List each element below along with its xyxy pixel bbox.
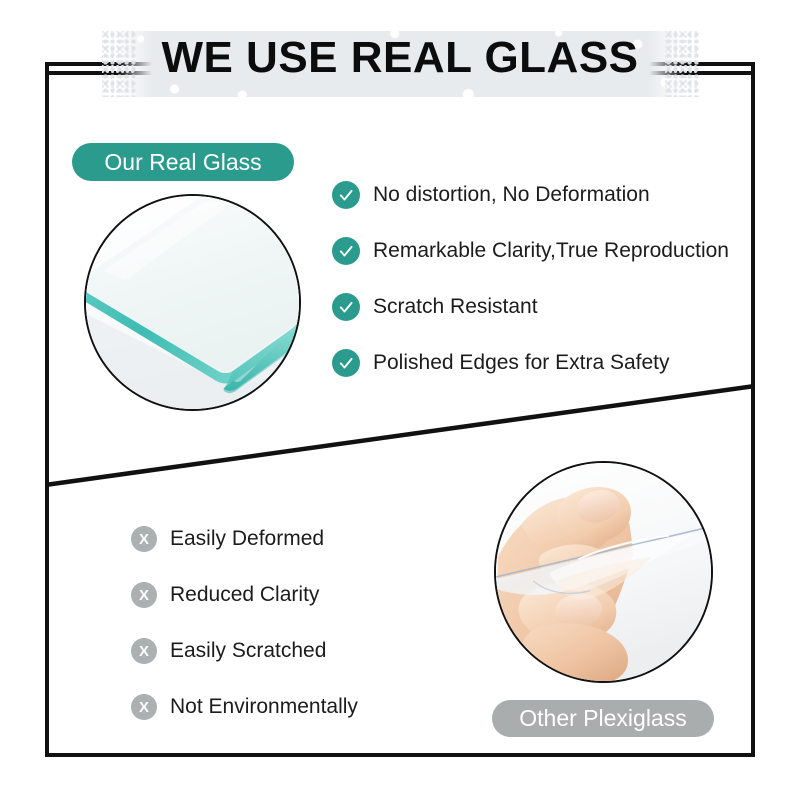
real-glass-image [84, 194, 301, 411]
list-item: Scratch Resistant [332, 279, 756, 335]
list-item: X Easily Deformed [131, 511, 471, 567]
page-title: WE USE REAL GLASS [0, 36, 800, 80]
list-item-label: Not Environmentally [170, 695, 358, 718]
list-item: X Reduced Clarity [131, 567, 471, 623]
check-icon [332, 349, 360, 377]
x-icon: X [131, 638, 157, 664]
check-icon [332, 293, 360, 321]
disadvantages-list: X Easily Deformed X Reduced Clarity X Ea… [131, 511, 471, 735]
list-item: X Easily Scratched [131, 623, 471, 679]
badge-other-plexiglass: Other Plexiglass [492, 700, 714, 737]
x-icon: X [131, 582, 157, 608]
hand-bending-plexiglass-illustration [496, 463, 711, 681]
list-item: No distortion, No Deformation [332, 167, 756, 223]
list-item: Remarkable Clarity,True Reproduction [332, 223, 756, 279]
x-icon: X [131, 526, 157, 552]
real-glass-illustration [86, 196, 299, 409]
x-icon: X [131, 694, 157, 720]
list-item-label: Polished Edges for Extra Safety [373, 351, 670, 374]
list-item-label: Reduced Clarity [170, 583, 319, 606]
advantages-list: No distortion, No Deformation Remarkable… [332, 167, 756, 391]
list-item-label: Remarkable Clarity,True Reproduction [373, 239, 729, 262]
list-item-label: No distortion, No Deformation [373, 183, 650, 206]
list-item-label: Scratch Resistant [373, 295, 538, 318]
check-icon [332, 181, 360, 209]
infographic-canvas: WE USE REAL GLASS Our Real Glass [0, 0, 800, 800]
check-icon [332, 237, 360, 265]
list-item: X Not Environmentally [131, 679, 471, 735]
list-item-label: Easily Scratched [170, 639, 326, 662]
plexiglass-image [494, 461, 713, 683]
list-item: Polished Edges for Extra Safety [332, 335, 756, 391]
badge-our-real-glass: Our Real Glass [72, 143, 294, 181]
list-item-label: Easily Deformed [170, 527, 324, 550]
